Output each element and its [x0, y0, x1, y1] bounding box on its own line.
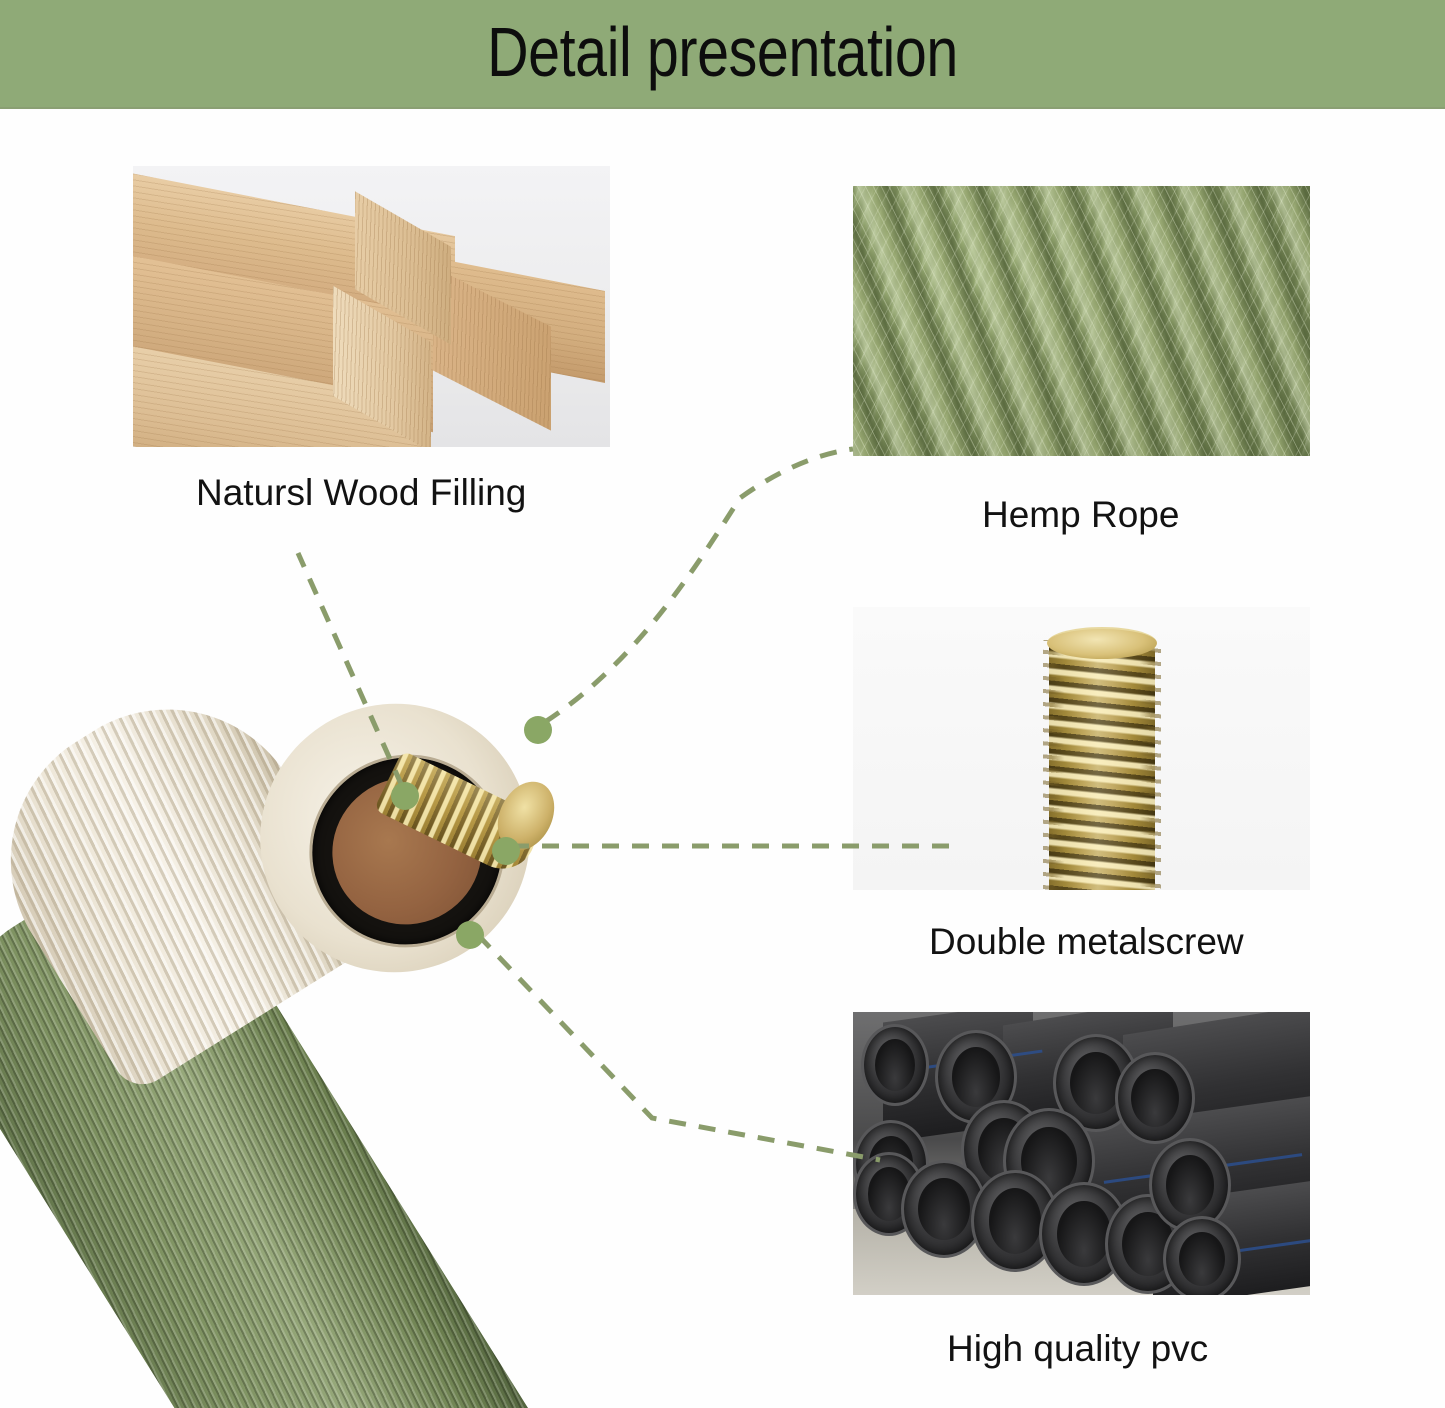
- callout-dot-wood-core: [391, 782, 419, 810]
- scratching-post-end-photo: [0, 660, 640, 1408]
- brass-screw-photo: [853, 607, 1310, 890]
- callout-dot-screw: [492, 837, 520, 865]
- wood-beams-photo: [133, 166, 610, 447]
- hemp-rope-fibers: [853, 186, 1310, 456]
- caption-wood-filling: Natursl Wood Filling: [196, 472, 526, 514]
- pvc-pipes-photo: [853, 1012, 1310, 1295]
- pvc-pipe-opening: [861, 1024, 929, 1106]
- caption-double-metalscrew: Double metalscrew: [929, 921, 1244, 963]
- hemp-rope-photo: [853, 186, 1310, 456]
- detail-presentation-page: Detail presentation: [0, 0, 1445, 1408]
- callout-dot-hemp-rope: [524, 716, 552, 744]
- screw-thread-edges: [1043, 640, 1161, 890]
- pvc-pipe-opening: [1163, 1216, 1241, 1295]
- callout-dot-pvc-ring: [456, 921, 484, 949]
- caption-high-quality-pvc: High quality pvc: [947, 1328, 1208, 1370]
- screw-top-face: [1047, 627, 1157, 659]
- header-banner: Detail presentation: [0, 0, 1445, 109]
- caption-hemp-rope: Hemp Rope: [982, 494, 1179, 536]
- page-title: Detail presentation: [130, 0, 1315, 107]
- pvc-pipe-opening: [1115, 1052, 1195, 1144]
